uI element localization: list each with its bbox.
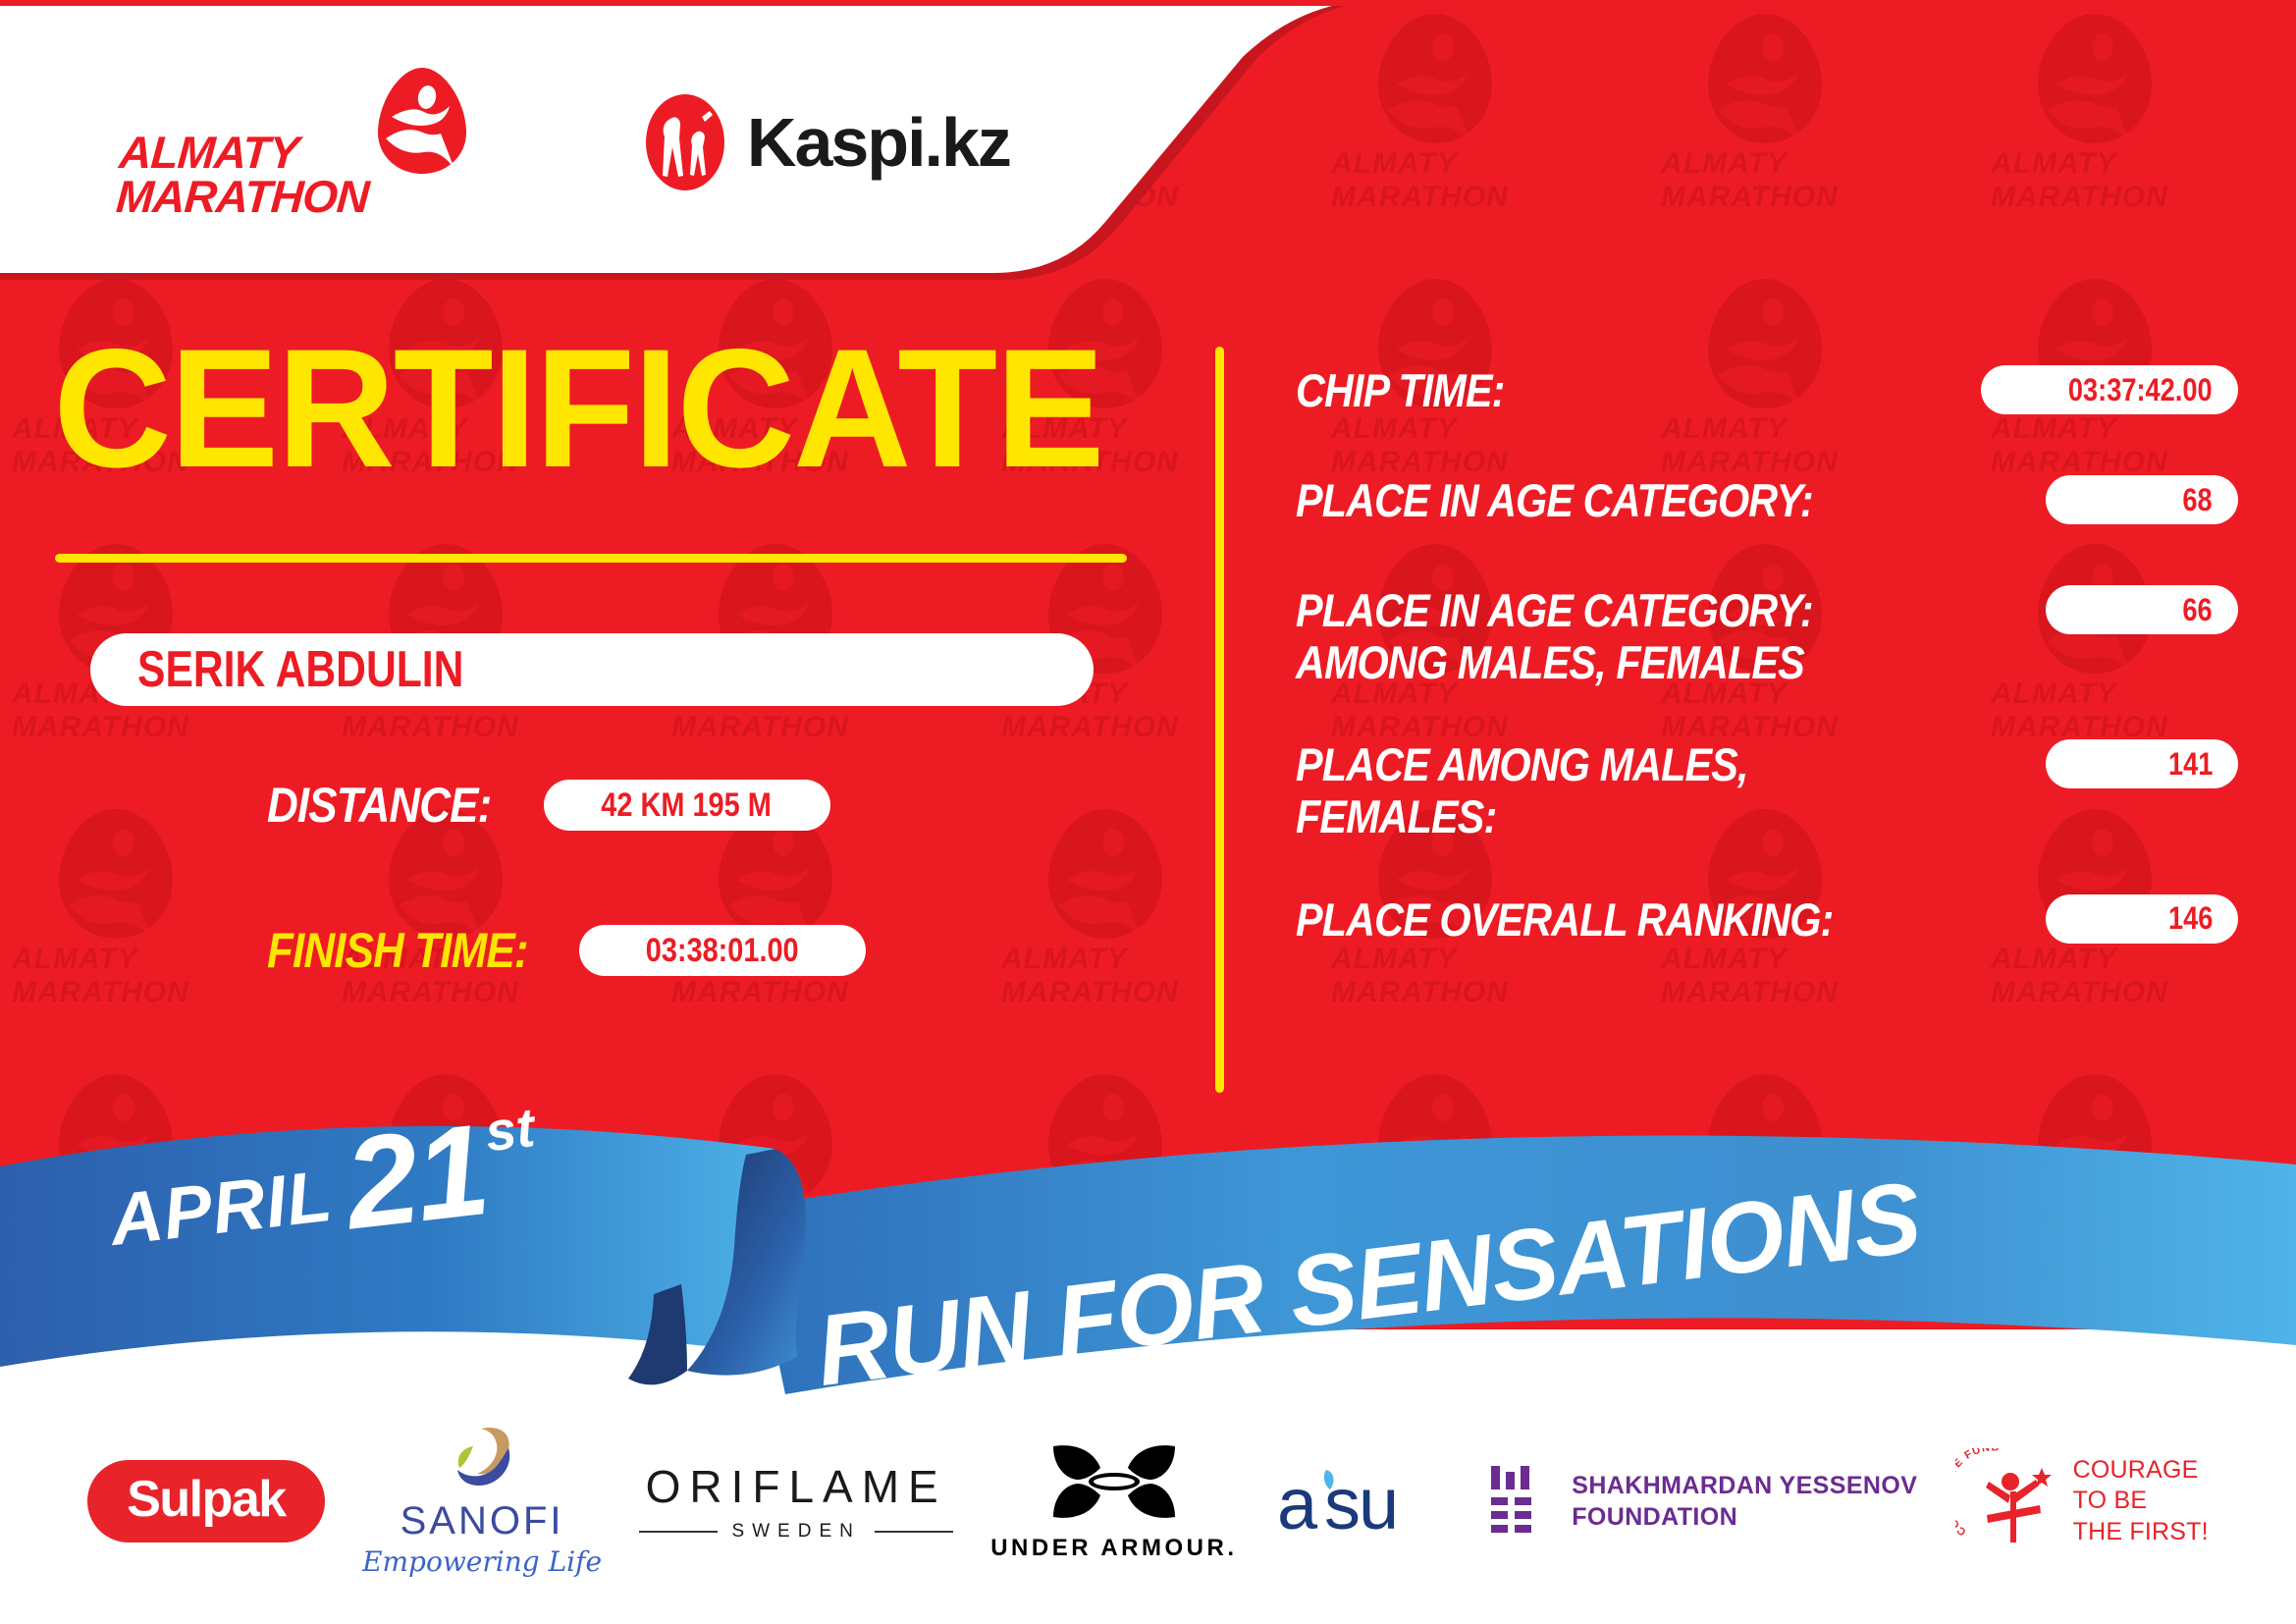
runner-drop-icon — [376, 66, 468, 176]
stat-row: PLACE IN AGE CATEGORY:68 — [1296, 475, 2238, 534]
courage-fund-icon: CORPORATE FUND — [1955, 1448, 2061, 1554]
certificate-canvas: ALMATY MARATHON ALMATY MARATHON — [0, 0, 2296, 1624]
sanofi-wordmark: SANOFI — [400, 1499, 564, 1543]
sponsor-yessenov-foundation: SHAKHMARDAN YESSENOV FOUNDATION — [1489, 1464, 1917, 1539]
sponsor-logos-row: Sulpak SANOFI Empowering Life ORIFLAME S… — [0, 1379, 2296, 1624]
stat-row: CHIP TIME:03:37:42.00 — [1296, 365, 2238, 424]
sponsor-sulpak: Sulpak — [87, 1460, 325, 1543]
stat-value-pill: 03:37:42.00 — [1981, 365, 2238, 414]
left-column: CERTIFICATE SERIK ABDULIN DISTANCE: 42 K… — [0, 324, 1178, 979]
almaty-marathon-logo: ALMATY MARATHON — [118, 66, 468, 219]
stat-value: 141 — [2168, 746, 2213, 783]
distance-value-pill: 42 KM 195 M — [544, 780, 830, 831]
yessenov-line-1: SHAKHMARDAN YESSENOV — [1572, 1470, 1917, 1502]
header-logos: ALMATY MARATHON Kaspi.kz — [0, 0, 1276, 285]
stat-value: 146 — [2168, 900, 2213, 937]
athlete-name-field: SERIK ABDULIN — [90, 633, 1094, 706]
stat-value-pill: 141 — [2046, 739, 2238, 788]
under-armour-wordmark: UNDER ARMOUR. — [990, 1535, 1237, 1562]
sponsor-under-armour: UNDER ARMOUR. — [990, 1440, 1237, 1562]
yessenov-wordmark: SHAKHMARDAN YESSENOV FOUNDATION — [1572, 1470, 1917, 1534]
stat-value-pill: 68 — [2046, 475, 2238, 524]
oriflame-subline: SWEDEN — [639, 1521, 952, 1543]
stat-value: 03:37:42.00 — [2068, 372, 2213, 408]
sponsor-asu: a su — [1275, 1456, 1452, 1546]
distance-value: 42 KM 195 M — [602, 786, 772, 825]
stat-value: 68 — [2183, 482, 2213, 518]
sulpak-wordmark: Sulpak — [127, 1470, 286, 1529]
athlete-name-value: SERIK ABDULIN — [137, 640, 463, 699]
title-divider — [55, 554, 1127, 563]
kaspi-wordmark: Kaspi.kz — [747, 103, 1010, 182]
yessenov-foundation-icon — [1489, 1464, 1546, 1539]
column-divider — [1215, 347, 1224, 1093]
page-title: CERTIFICATE — [0, 324, 1143, 493]
event-day: 21 — [341, 1114, 493, 1241]
courage-fund-wordmark: COURAGE TO BE THE FIRST! — [2073, 1455, 2209, 1547]
event-month: APRIL — [106, 1154, 337, 1262]
logo-line-marathon: MARATHON — [115, 175, 370, 219]
stat-value-pill: 146 — [2046, 894, 2238, 944]
stat-value-pill: 66 — [2046, 585, 2238, 634]
kaspi-logo: Kaspi.kz — [645, 93, 1010, 191]
oriflame-country: SWEDEN — [731, 1521, 860, 1543]
courage-line-3: THE FIRST! — [2073, 1517, 2209, 1547]
yessenov-line-2: FOUNDATION — [1572, 1501, 1917, 1534]
courage-line-1: COURAGE — [2073, 1455, 2209, 1486]
logo-line-almaty: ALMATY — [118, 131, 373, 175]
asu-icon: a su — [1275, 1456, 1452, 1546]
sponsor-oriflame: ORIFLAME SWEDEN — [639, 1460, 952, 1543]
oriflame-rule-left — [639, 1531, 718, 1533]
stat-row: PLACE IN AGE CATEGORY: AMONG MALES, FEMA… — [1296, 585, 2238, 688]
svg-text:su: su — [1324, 1463, 1397, 1544]
distance-label: DISTANCE: — [267, 777, 491, 834]
stat-value: 66 — [2183, 592, 2213, 628]
finish-time-value: 03:38:01.00 — [646, 932, 799, 970]
results-stats-list: CHIP TIME:03:37:42.00PLACE IN AGE CATEGO… — [1296, 365, 2238, 1004]
finish-time-value-pill: 03:38:01.00 — [579, 925, 866, 976]
kaspi-people-icon — [645, 93, 725, 191]
sanofi-tagline: Empowering Life — [362, 1545, 602, 1578]
sponsor-sanofi: SANOFI Empowering Life — [362, 1425, 602, 1578]
distance-row: DISTANCE: 42 KM 195 M — [267, 777, 1178, 834]
oriflame-rule-right — [875, 1531, 953, 1533]
oriflame-wordmark: ORIFLAME — [646, 1460, 947, 1513]
svg-text:a: a — [1277, 1463, 1318, 1544]
under-armour-icon — [1049, 1440, 1179, 1523]
sponsor-courage-fund: CORPORATE FUND COURAGE TO BE THE FIRST! — [1955, 1448, 2209, 1554]
stat-row: PLACE OVERALL RANKING:146 — [1296, 894, 2238, 953]
finish-time-row: FINISH TIME: 03:38:01.00 — [267, 922, 1178, 979]
event-day-suffix: st — [482, 1095, 538, 1164]
finish-time-label: FINISH TIME: — [267, 922, 528, 979]
courage-line-2: TO BE — [2073, 1486, 2209, 1516]
stat-row: PLACE AMONG MALES, FEMALES:141 — [1296, 739, 2238, 842]
sanofi-icon — [448, 1425, 516, 1491]
